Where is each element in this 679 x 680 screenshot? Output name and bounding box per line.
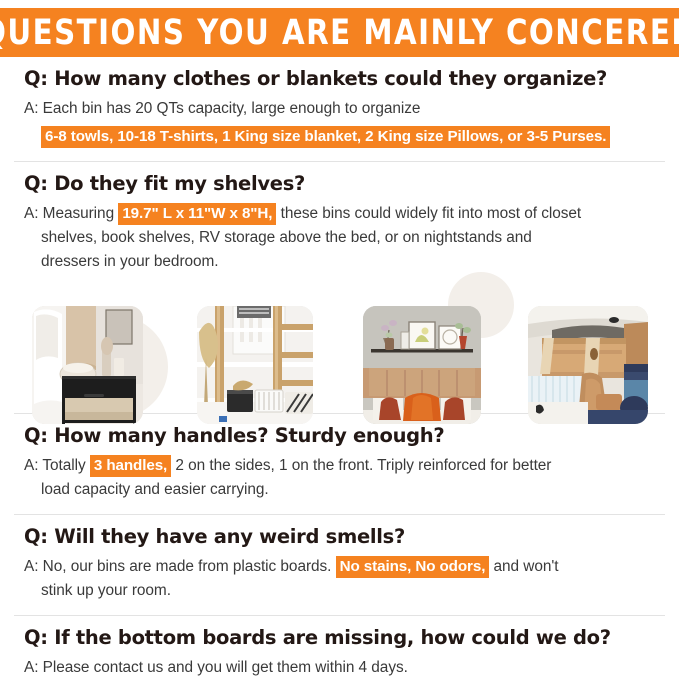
answer-prefix: A: No, our bins are made from plastic bo… [24, 558, 336, 575]
faq-question: Q: How many handles? Sturdy enough? [24, 424, 657, 448]
answer-prefix: A: Measuring [24, 205, 118, 222]
faq-answer-line: dressers in your bedroom. [24, 250, 657, 274]
photo-nightstand-bedroom-graphic [32, 306, 143, 424]
photo-bed-headboard-graphic [363, 306, 481, 424]
photo-rv-overhead-storage [528, 306, 648, 424]
faq-answer-line: A: Each bin has 20 QTs capacity, large e… [24, 97, 657, 121]
answer-suffix: 2 on the sides, 1 on the front. Triply r… [171, 457, 551, 474]
highlight-badge: 6-8 towls, 10-18 T-shirts, 1 King size b… [41, 126, 610, 148]
faq-answer-line: A: Measuring 19.7" L x 11"W x 8"H, these… [24, 202, 657, 226]
banner-title: QUESTIONS YOU ARE MAINLY CONCERED [0, 15, 679, 51]
header-banner: QUESTIONS YOU ARE MAINLY CONCERED [0, 8, 679, 57]
faq-question: Q: Do they fit my shelves? [24, 172, 657, 196]
faq-answer-line: A: Please contact us and you will get th… [24, 656, 657, 680]
faq-answer-highlight-line: 6-8 towls, 10-18 T-shirts, 1 King size b… [24, 125, 657, 149]
faq-answer-line: A: Totally 3 handles, 2 on the sides, 1 … [24, 454, 657, 478]
photo-wooden-shelving-baskets [197, 306, 313, 424]
faq-question: Q: If the bottom boards are missing, how… [24, 626, 657, 650]
highlight-badge: No stains, No odors, [336, 556, 490, 578]
answer-prefix: A: Totally [24, 457, 90, 474]
faq-page: QUESTIONS YOU ARE MAINLY CONCERED Q: How… [0, 0, 679, 672]
faq-answer-line: A: No, our bins are made from plastic bo… [24, 555, 657, 579]
faq-question: Q: Will they have any weird smells? [24, 525, 657, 549]
answer-suffix: these bins could widely fit into most of… [276, 205, 581, 222]
highlight-badge: 19.7" L x 11"W x 8"H, [118, 203, 276, 225]
faq-answer-line: load capacity and easier carrying. [24, 478, 657, 502]
faq-question: Q: How many clothes or blankets could th… [24, 67, 657, 91]
faq-item-fit-shelves: Q: Do they fit my shelves? A: Measuring … [0, 172, 679, 274]
faq-item-smells: Q: Will they have any weird smells? A: N… [0, 525, 679, 603]
faq-item-handles: Q: How many handles? Sturdy enough? A: T… [0, 424, 679, 502]
photo-bed-headboard-shelf [363, 306, 481, 424]
answer-suffix: and won't [489, 558, 558, 575]
photo-rv-interior-graphic [528, 306, 648, 424]
faq-answer-line: shelves, book shelves, RV storage above … [24, 226, 657, 250]
highlight-badge: 3 handles, [90, 455, 171, 477]
photo-gallery [0, 278, 679, 413]
photo-wooden-shelving-graphic [197, 306, 313, 424]
photo-nightstand-bedroom [32, 306, 143, 424]
faq-content: Q: How many clothes or blankets could th… [0, 57, 679, 680]
faq-answer-line: stink up your room. [24, 579, 657, 603]
faq-item-organize-capacity: Q: How many clothes or blankets could th… [0, 67, 679, 149]
